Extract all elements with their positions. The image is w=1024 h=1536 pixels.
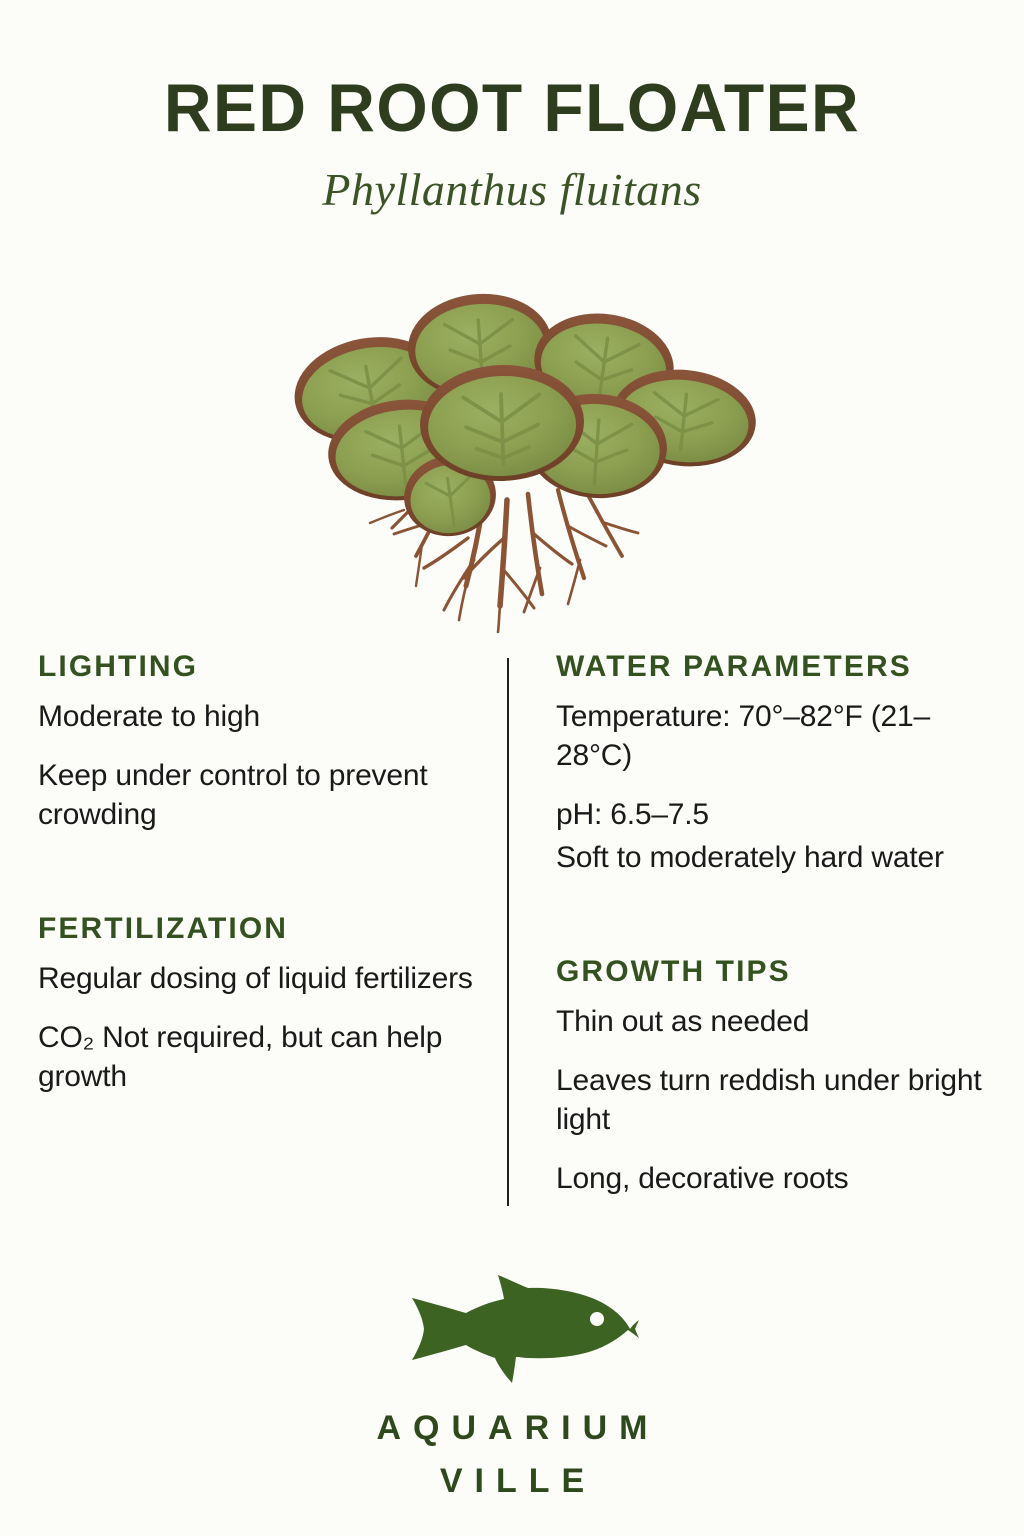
page-title: RED ROOT FLOATER [15,74,1008,143]
section-growth-tips: GROWTH TIPS Thin out as needed Leaves tu… [556,955,990,1198]
fertilization-paragraph-2: CO₂ Not required, but can help growth [38,1018,478,1096]
water-parameter-hardness: Soft to moderately hard water [556,838,990,877]
section-heading-fertilization: FERTILIZATION [38,912,478,945]
section-water-parameters: WATER PARAMETERS Temperature: 70°–82°F (… [556,650,990,877]
fertilization-paragraph-1: Regular dosing of liquid fertilizers [38,959,478,998]
lighting-paragraph-1: Moderate to high [38,697,478,736]
content-grid: LIGHTING Moderate to high Keep under con… [0,650,1024,1198]
scientific-name: Phyllanthus fluitans [0,165,1024,216]
section-lighting: LIGHTING Moderate to high Keep under con… [38,650,478,834]
plant-leaves [286,289,760,542]
growth-tip-2: Leaves turn reddish under bright light [556,1061,990,1139]
infographic-page: RED ROOT FLOATER Phyllanthus fluitans [0,0,1024,1536]
water-parameter-ph: pH: 6.5–7.5 [556,795,990,834]
lighting-paragraph-2: Keep under control to prevent crowding [38,756,478,834]
brand-name-line-1: AQUARIUM [0,1407,1024,1450]
section-fertilization: FERTILIZATION Regular dosing of liquid f… [38,912,478,1096]
water-parameter-temperature: Temperature: 70°–82°F (21–28°C) [556,697,990,775]
brand-name-line-2: VILLE [0,1460,1024,1503]
footer-brand: AQUARIUM VILLE [0,1275,1024,1502]
growth-tip-3: Long, decorative roots [556,1159,990,1198]
right-column: WATER PARAMETERS Temperature: 70°–82°F (… [514,650,990,1198]
plant-illustration [252,238,772,638]
fish-eye-icon [590,1312,604,1326]
section-heading-lighting: LIGHTING [38,650,478,683]
growth-tip-1: Thin out as needed [556,1002,990,1041]
section-heading-growth-tips: GROWTH TIPS [556,955,990,988]
left-column: LIGHTING Moderate to high Keep under con… [38,650,514,1198]
section-heading-water-parameters: WATER PARAMETERS [556,650,990,683]
column-divider [507,658,509,1206]
fish-icon [378,1275,646,1383]
header: RED ROOT FLOATER Phyllanthus fluitans [0,0,1024,216]
